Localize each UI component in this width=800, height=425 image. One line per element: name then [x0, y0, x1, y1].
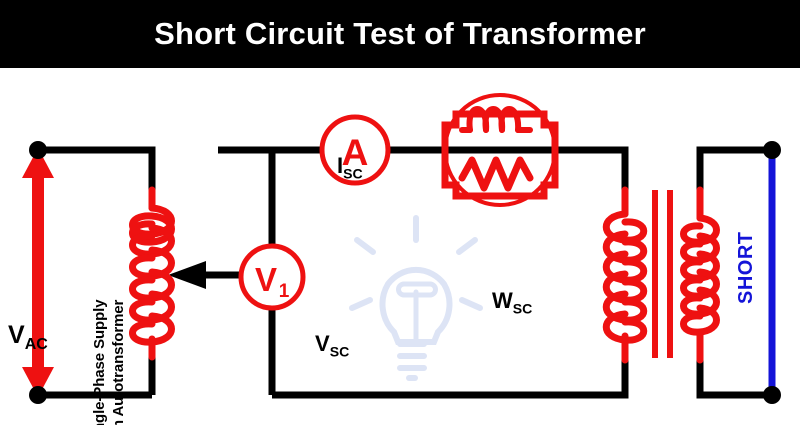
autotransformer-coil: [133, 190, 172, 357]
label-vac: VAC: [8, 323, 48, 353]
transformer-core: [655, 190, 670, 358]
page-title: Short Circuit Test of Transformer: [154, 16, 646, 52]
lv-winding: [684, 190, 717, 360]
circuit-diagram-canvas: A V 1: [0, 68, 800, 425]
wire-hv-bottom-rail: [272, 355, 625, 395]
label-isc: ISC: [337, 155, 363, 180]
title-bar: Short Circuit Test of Transformer: [0, 0, 800, 68]
label-wsc: WSC: [492, 290, 532, 315]
label-short: SHORT: [736, 232, 756, 305]
voltmeter-symbol: V: [255, 261, 277, 298]
node-dot-top-left: [29, 141, 47, 159]
wire-to-hv-top: [560, 150, 625, 190]
label-supply-line-2: from Autotransformer: [110, 300, 127, 425]
light-bulb-watermark-icon: [352, 218, 480, 378]
voltmeter-subscript: 1: [279, 281, 290, 302]
node-dot-bottom-right: [763, 386, 781, 404]
vac-double-arrow-icon: [22, 148, 54, 397]
hv-winding: [606, 190, 644, 360]
wire-top-left: [38, 150, 152, 190]
node-dot-bottom-left: [29, 386, 47, 404]
wire-lv-bottom: [700, 355, 772, 395]
wattmeter-resistor: [462, 160, 530, 188]
node-dot-top-right: [763, 141, 781, 159]
label-vsc: VSC: [315, 333, 349, 358]
wire-lv-top: [700, 150, 772, 190]
label-supply-line-1: Single-Phase Supply: [91, 300, 108, 425]
screenshot-root: Short Circuit Test of Transformer: [0, 0, 800, 425]
